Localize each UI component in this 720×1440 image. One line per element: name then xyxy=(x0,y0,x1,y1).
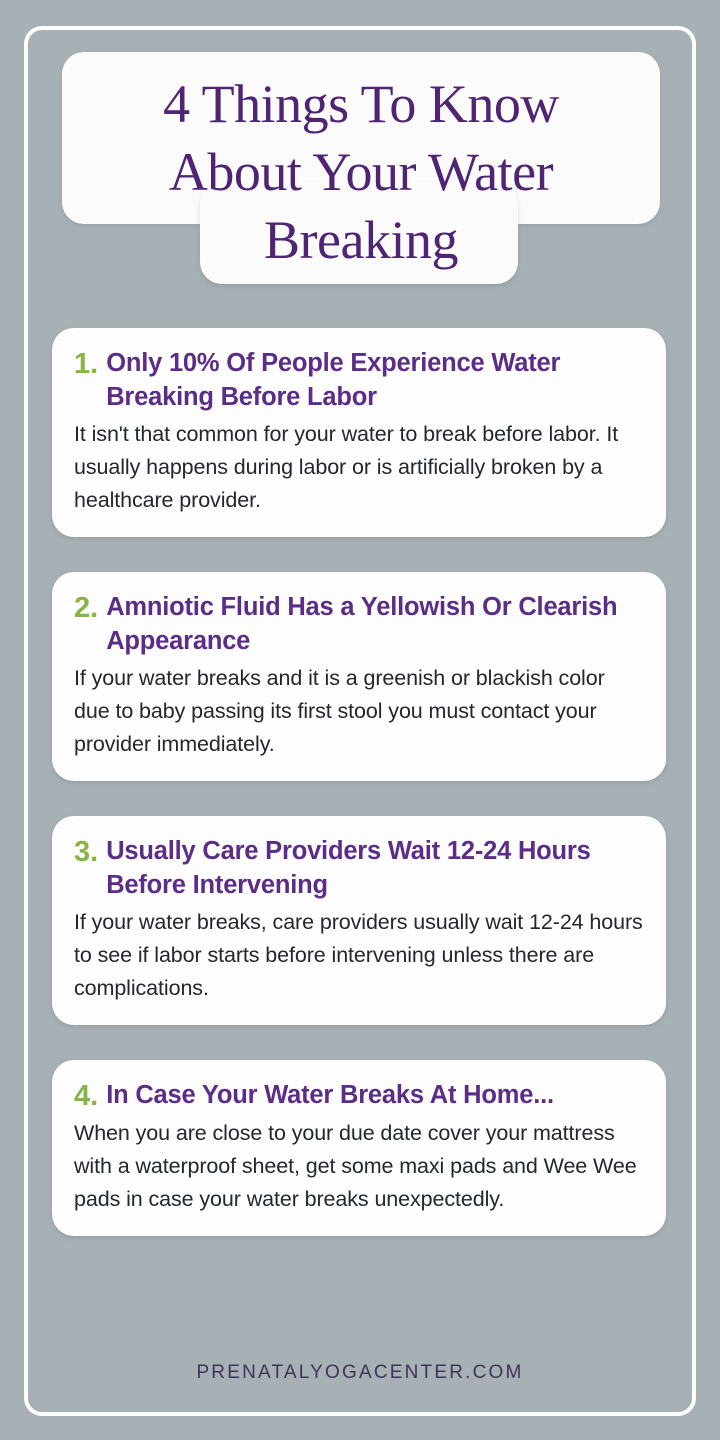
item-heading: Usually Care Providers Wait 12-24 Hours … xyxy=(106,834,644,902)
item-body: If your water breaks, care providers usu… xyxy=(74,906,644,1005)
list-item: 2. Amniotic Fluid Has a Yellowish Or Cle… xyxy=(52,572,666,781)
page-title-line-1: 4 Things To Know xyxy=(62,70,660,138)
page-title-line-3: Breaking xyxy=(62,206,660,274)
page-title: 4 Things To Know About Your Water Breaki… xyxy=(62,70,660,274)
list-item: 3. Usually Care Providers Wait 12-24 Hou… xyxy=(52,816,666,1025)
item-number: 4. xyxy=(74,1078,106,1113)
title-block: 4 Things To Know About Your Water Breaki… xyxy=(0,52,720,292)
infographic-poster: 4 Things To Know About Your Water Breaki… xyxy=(0,0,720,1440)
card-header: 4. In Case Your Water Breaks At Home... xyxy=(74,1078,644,1113)
item-number: 3. xyxy=(74,834,106,869)
item-heading: In Case Your Water Breaks At Home... xyxy=(106,1078,644,1112)
footer-website-url[interactable]: PRENATALYOGACENTER.COM xyxy=(0,1362,720,1384)
item-heading: Only 10% Of People Experience Water Brea… xyxy=(106,346,644,414)
card-header: 3. Usually Care Providers Wait 12-24 Hou… xyxy=(74,834,644,902)
list-item: 1. Only 10% Of People Experience Water B… xyxy=(52,328,666,537)
item-body: When you are close to your due date cove… xyxy=(74,1117,644,1216)
item-body: If your water breaks and it is a greenis… xyxy=(74,662,644,761)
item-body: It isn't that common for your water to b… xyxy=(74,418,644,517)
card-header: 1. Only 10% Of People Experience Water B… xyxy=(74,346,644,414)
tips-list: 1. Only 10% Of People Experience Water B… xyxy=(52,328,666,1236)
list-item: 4. In Case Your Water Breaks At Home... … xyxy=(52,1060,666,1236)
item-number: 1. xyxy=(74,346,106,381)
item-heading: Amniotic Fluid Has a Yellowish Or Cleari… xyxy=(106,590,644,658)
card-header: 2. Amniotic Fluid Has a Yellowish Or Cle… xyxy=(74,590,644,658)
page-title-line-2: About Your Water xyxy=(62,138,660,206)
item-number: 2. xyxy=(74,590,106,625)
